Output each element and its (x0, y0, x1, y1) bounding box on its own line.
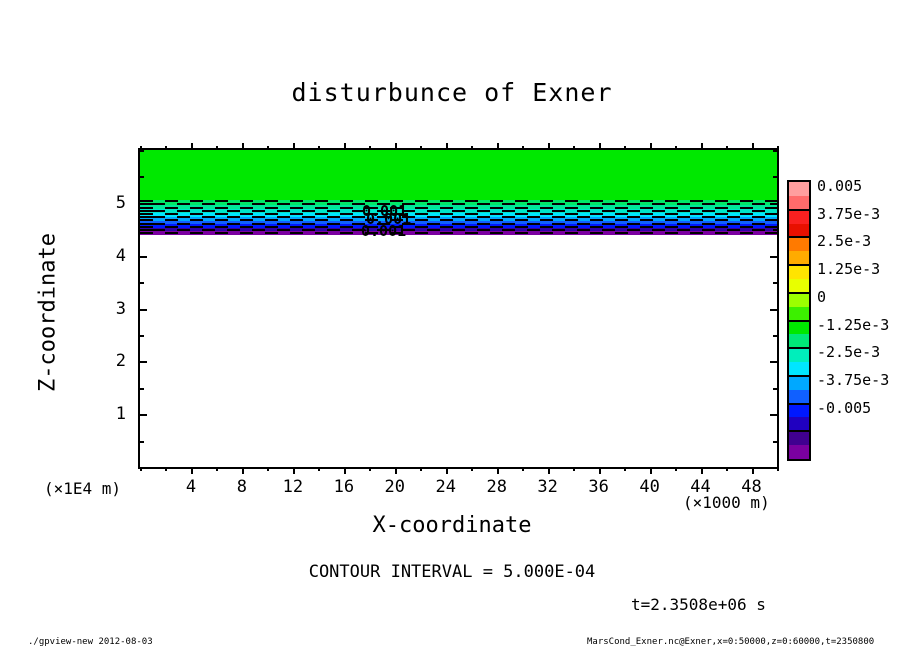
y-tick (770, 361, 777, 363)
x-tick (777, 146, 779, 150)
colorbar-cell (789, 431, 809, 445)
plot-area: 0.001 0.001 0.001 4812162024283236404448… (138, 148, 779, 469)
y-tick (773, 176, 777, 178)
y-tick-label: 5 (116, 193, 126, 213)
colorbar-separator (789, 375, 809, 377)
y-tick (773, 282, 777, 284)
x-tick (675, 467, 677, 471)
y-tick (140, 467, 144, 469)
y-axis-unit: (×1E4 m) (44, 479, 121, 498)
x-tick (369, 467, 371, 471)
y-tick (773, 229, 777, 231)
colorbar-tick-label: -2.5e-3 (817, 343, 880, 361)
y-tick (770, 203, 777, 205)
y-tick (773, 388, 777, 390)
x-tick (726, 146, 728, 150)
colorbar-cell (789, 224, 809, 238)
x-tick (497, 467, 499, 474)
colorbar-cell (789, 182, 809, 196)
x-tick (471, 467, 473, 471)
x-tick-label: 8 (237, 477, 247, 497)
colorbar-tick-label: -3.75e-3 (817, 371, 889, 389)
contour-line (140, 200, 777, 202)
x-tick (599, 467, 601, 474)
field-uniform-region (140, 150, 777, 200)
colorbar-tick-label: -0.005 (817, 399, 871, 417)
y-tick (773, 150, 777, 152)
x-tick (701, 467, 703, 474)
colorbar-cell (789, 265, 809, 279)
x-tick-label: 24 (436, 477, 456, 497)
page-title: disturbunce of Exner (0, 78, 904, 107)
x-tick (191, 467, 193, 474)
x-tick (344, 467, 346, 474)
x-tick-label: 16 (334, 477, 354, 497)
x-tick (573, 146, 575, 150)
contour-line (140, 210, 777, 212)
y-tick (140, 176, 144, 178)
contour-line (140, 213, 777, 215)
x-tick (446, 143, 448, 150)
x-tick (548, 467, 550, 474)
y-tick (140, 309, 147, 311)
colorbar-separator (789, 209, 809, 211)
x-tick (267, 467, 269, 471)
contour-line-overlay (140, 200, 777, 234)
x-axis-unit: (×1000 m) (683, 493, 770, 512)
colorbar-cell (789, 320, 809, 334)
y-tick-label: 2 (116, 351, 126, 371)
x-tick (752, 143, 754, 150)
x-tick (344, 143, 346, 150)
footer-source: MarsCond_Exner.nc@Exner,x=0:50000,z=0:60… (587, 637, 874, 647)
colorbar-cell (789, 362, 809, 376)
colorbar-cell (789, 334, 809, 348)
colorbar-tick-label: 2.5e-3 (817, 232, 871, 250)
colorbar-cell (789, 279, 809, 293)
x-tick (446, 467, 448, 474)
x-tick (675, 146, 677, 150)
colorbar-separator (789, 292, 809, 294)
contour-line (140, 216, 777, 218)
y-tick-label: 3 (116, 299, 126, 319)
colorbar-tick-label: 0.005 (817, 177, 862, 195)
x-tick (522, 467, 524, 471)
x-tick (752, 467, 754, 474)
x-tick (395, 467, 397, 474)
y-tick (140, 282, 144, 284)
x-tick (395, 143, 397, 150)
x-tick (471, 146, 473, 150)
contour-label: 0.001 (361, 222, 406, 240)
x-tick (369, 146, 371, 150)
contour-line (140, 229, 777, 231)
y-tick-label: 1 (116, 404, 126, 424)
colorbar-tick-label: 3.75e-3 (817, 205, 880, 223)
colorbar-cell (789, 445, 809, 459)
colorbar-separator (789, 320, 809, 322)
x-tick-label: 40 (639, 477, 659, 497)
x-tick (573, 467, 575, 471)
colorbar-cell (789, 348, 809, 362)
colorbar-cell (789, 210, 809, 224)
y-tick (140, 335, 144, 337)
y-tick (770, 256, 777, 258)
x-tick (599, 143, 601, 150)
colorbar-separator (789, 430, 809, 432)
colorbar-cell (789, 237, 809, 251)
footer-command: ./gpview-new 2012-08-03 (28, 637, 153, 647)
x-tick (624, 467, 626, 471)
colorbar-cell (789, 293, 809, 307)
colorbar-separator (789, 236, 809, 238)
y-tick (140, 414, 147, 416)
colorbar-separator (789, 347, 809, 349)
x-tick (318, 146, 320, 150)
colorbar-cell (789, 376, 809, 390)
colorbar-separator (789, 264, 809, 266)
x-tick-label: 32 (537, 477, 557, 497)
x-tick (191, 143, 193, 150)
y-tick-label: 4 (116, 246, 126, 266)
x-tick-label: 4 (186, 477, 196, 497)
y-tick (773, 335, 777, 337)
x-tick (318, 467, 320, 471)
x-tick (293, 467, 295, 474)
y-tick (140, 229, 144, 231)
colorbar-cell (789, 251, 809, 265)
colorbar-tick-label: 1.25e-3 (817, 260, 880, 278)
colorbar (787, 180, 811, 461)
y-tick (140, 256, 147, 258)
timestamp-label: t=2.3508e+06 s (631, 595, 766, 614)
x-tick (548, 143, 550, 150)
contour-line (140, 219, 777, 221)
contour-line (140, 203, 777, 205)
contour-line (140, 226, 777, 228)
x-tick (650, 467, 652, 474)
y-tick (140, 388, 144, 390)
colorbar-cell (789, 404, 809, 418)
x-tick (624, 146, 626, 150)
colorbar-cell (789, 390, 809, 404)
x-tick (165, 467, 167, 471)
x-tick-label: 28 (486, 477, 506, 497)
x-tick (216, 146, 218, 150)
colorbar-cell (789, 196, 809, 210)
contour-field (140, 150, 777, 467)
x-tick-label: 12 (283, 477, 303, 497)
x-tick (293, 143, 295, 150)
colorbar-tick-label: -1.25e-3 (817, 316, 889, 334)
x-tick-label: 36 (588, 477, 608, 497)
contour-interval-note: CONTOUR INTERVAL = 5.000E-04 (0, 562, 904, 582)
y-tick (770, 309, 777, 311)
y-tick (770, 414, 777, 416)
x-tick (242, 467, 244, 474)
x-tick (701, 143, 703, 150)
x-tick (242, 143, 244, 150)
x-tick (420, 467, 422, 471)
y-tick (773, 441, 777, 443)
x-tick (267, 146, 269, 150)
x-tick-label: 20 (385, 477, 405, 497)
y-tick (140, 361, 147, 363)
x-axis-title: X-coordinate (0, 513, 904, 538)
y-tick (773, 467, 777, 469)
colorbar-cell (789, 307, 809, 321)
y-tick (140, 150, 144, 152)
x-tick (216, 467, 218, 471)
x-tick (650, 143, 652, 150)
y-tick (140, 203, 147, 205)
colorbar-tick-label: 0 (817, 288, 826, 306)
contour-line (140, 207, 777, 209)
x-tick (497, 143, 499, 150)
contour-line (140, 232, 777, 234)
contour-line (140, 223, 777, 225)
y-tick (140, 441, 144, 443)
colorbar-separator (789, 403, 809, 405)
x-tick (420, 146, 422, 150)
y-axis-title: Z-coordinate (36, 203, 61, 423)
x-tick (522, 146, 524, 150)
x-tick (165, 146, 167, 150)
colorbar-cell (789, 417, 809, 431)
x-tick (777, 467, 779, 471)
x-tick (726, 467, 728, 471)
